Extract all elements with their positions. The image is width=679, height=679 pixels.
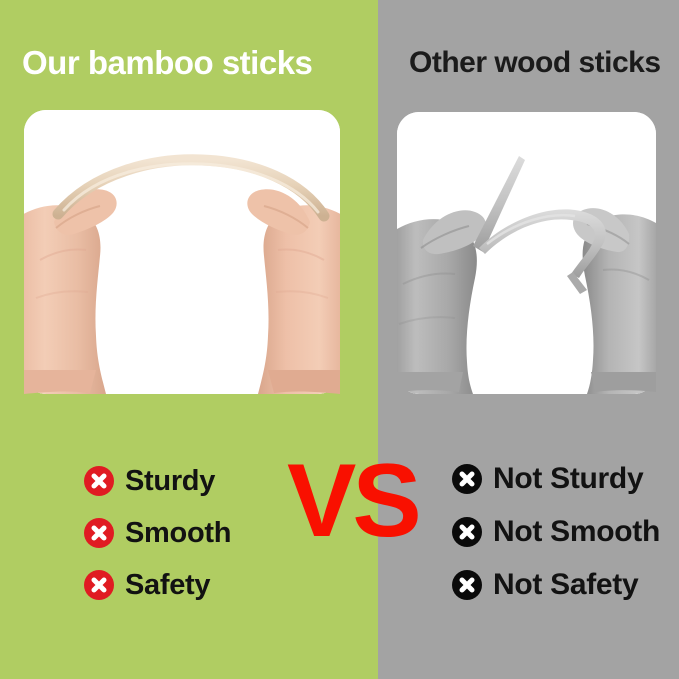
feature-label: Safety (125, 569, 210, 602)
list-item: Not Safety (452, 558, 660, 611)
feature-label: Not Sturdy (493, 462, 643, 496)
left-hand-spill (24, 370, 340, 398)
feature-label: Not Smooth (493, 515, 660, 549)
feature-label: Not Safety (493, 568, 638, 602)
x-circle-icon (452, 570, 482, 600)
left-feature-list: Sturdy Smooth Safety (84, 455, 231, 611)
broken-wood-stick-photo (397, 112, 656, 394)
x-circle-icon (452, 517, 482, 547)
list-item: Not Smooth (452, 505, 660, 558)
list-item: Not Sturdy (452, 452, 660, 505)
list-item: Safety (84, 559, 231, 611)
left-product-photo-card (24, 110, 340, 394)
feature-label: Sturdy (125, 465, 215, 498)
right-product-photo-card (397, 112, 656, 394)
x-circle-icon (84, 466, 114, 496)
right-feature-list: Not Sturdy Not Smooth Not Safety (452, 452, 660, 611)
vs-label: VS (287, 449, 418, 553)
feature-label: Smooth (125, 517, 231, 550)
x-circle-icon (452, 464, 482, 494)
left-panel-heading: Our bamboo sticks (22, 44, 312, 82)
right-panel-heading: Other wood sticks (409, 46, 661, 80)
right-hand-spill (397, 372, 656, 396)
x-circle-icon (84, 518, 114, 548)
list-item: Sturdy (84, 455, 231, 507)
bamboo-stick-bending-photo (24, 110, 340, 394)
x-circle-icon (84, 570, 114, 600)
list-item: Smooth (84, 507, 231, 559)
comparison-infographic: Our bamboo sticks Other wood sticks (0, 0, 679, 679)
